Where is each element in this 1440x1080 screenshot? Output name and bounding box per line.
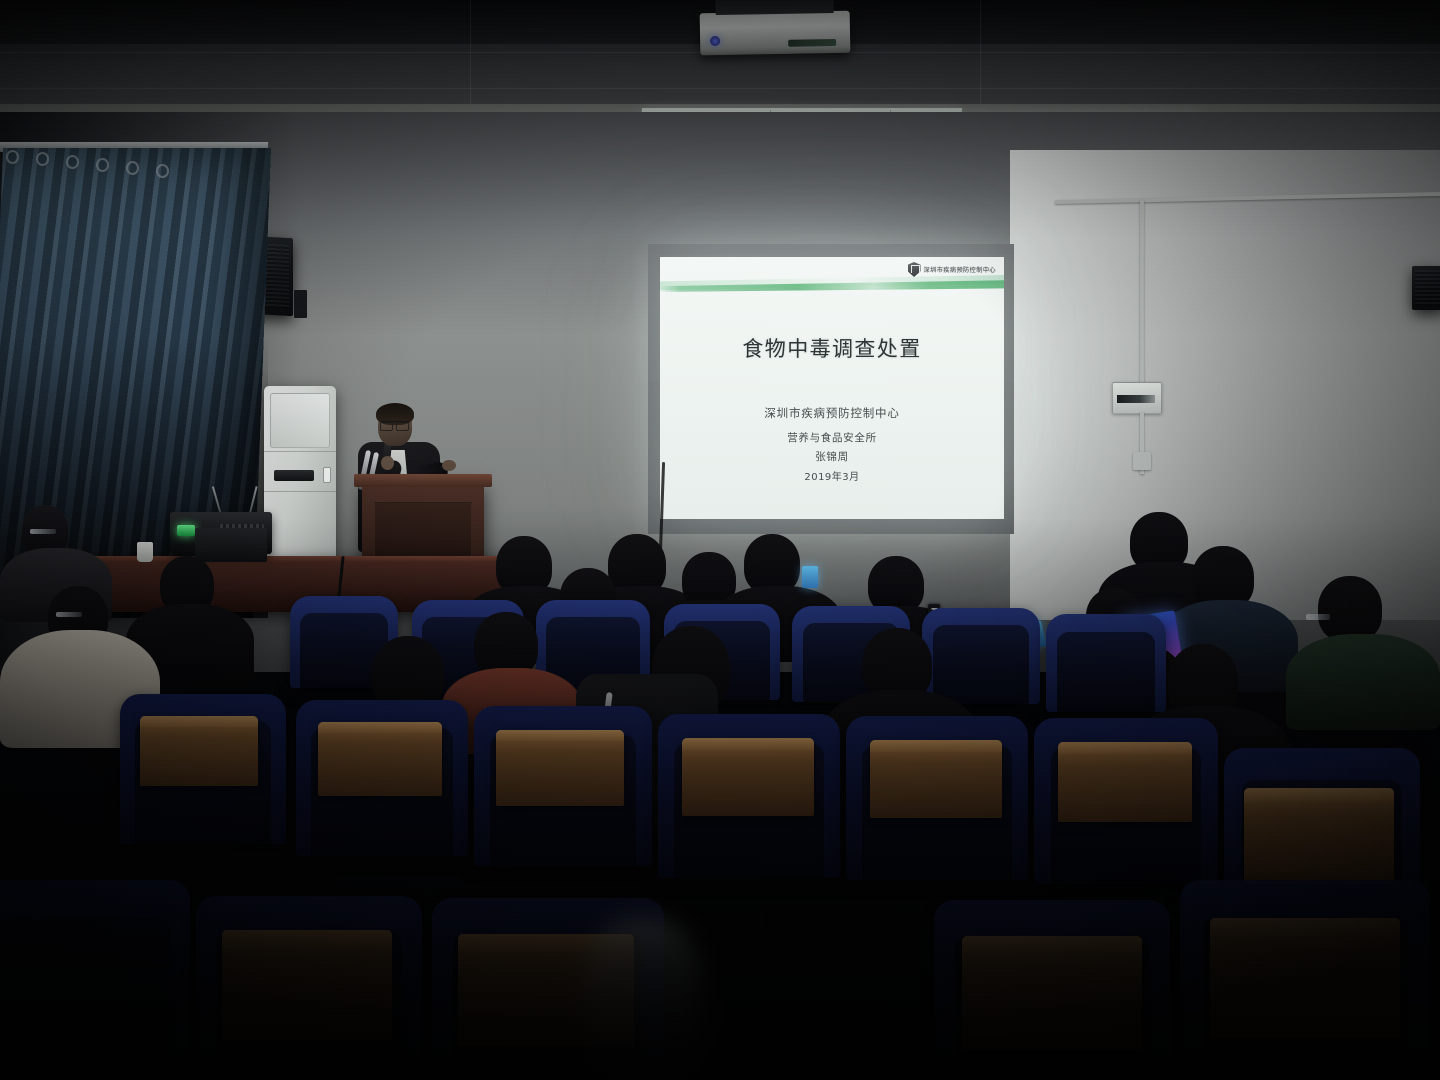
seat-writing-tablet[interactable]	[682, 738, 814, 816]
wall-junction-box	[1133, 452, 1151, 470]
glasses-icon	[380, 421, 409, 429]
auditorium-seat[interactable]	[0, 880, 190, 1080]
curtain-hook	[156, 164, 169, 178]
projector-lens-icon	[710, 36, 720, 46]
speaker-bracket	[294, 290, 307, 318]
paper-cup	[137, 542, 153, 562]
slide-date-line: 2019年3月	[660, 468, 1004, 483]
slide-logo: 深圳市疾病预防控制中心	[908, 262, 996, 277]
ceiling-projector	[700, 11, 851, 56]
curtain-hook	[66, 155, 79, 169]
seat-writing-tablet[interactable]	[1210, 918, 1400, 1038]
shield-logo-icon	[908, 262, 921, 277]
slide-logo-text: 深圳市疾病预防控制中心	[924, 265, 996, 274]
presentation-slide: 深圳市疾病预防控制中心 食物中毒调查处置 深圳市疾病预防控制中心 营养与食品安全…	[660, 257, 1004, 519]
audience-torso	[1286, 634, 1440, 730]
seat-writing-tablet[interactable]	[140, 716, 258, 786]
ac-display	[274, 470, 314, 481]
audience-head	[744, 534, 800, 594]
ac-power-button[interactable]	[323, 467, 331, 483]
slide-title: 食物中毒调查处置	[660, 333, 1004, 363]
curtain-hook	[96, 158, 109, 172]
presenter-hand	[442, 460, 456, 471]
auditorium-seat[interactable]	[922, 608, 1040, 704]
seat-writing-tablet[interactable]	[222, 930, 392, 1040]
floor-standing-air-conditioner	[264, 386, 336, 561]
slide-dept-line: 营养与食品安全所	[660, 430, 1004, 445]
seat-writing-tablet[interactable]	[318, 722, 442, 796]
seat-writing-tablet[interactable]	[1244, 788, 1394, 884]
slide-subtitle-block: 深圳市疾病预防控制中心 营养与食品安全所 张锦周 2019年3月	[660, 405, 1004, 483]
ceiling-seam	[0, 88, 1440, 89]
seat-writing-tablet[interactable]	[870, 740, 1002, 818]
glasses-icon	[30, 529, 56, 534]
slide-org-line: 深圳市疾病预防控制中心	[660, 405, 1004, 421]
glasses-icon	[56, 612, 82, 617]
projector-vent	[788, 39, 836, 47]
audio-mixer[interactable]	[195, 528, 267, 562]
ceiling-seam	[470, 0, 471, 118]
illuminated-phone-screen[interactable]	[802, 566, 818, 588]
presenter-hand	[381, 456, 394, 470]
ac-grille	[270, 393, 331, 448]
seat-writing-tablet[interactable]	[496, 730, 624, 806]
lecture-hall-photo: 深圳市疾病预防控制中心 食物中毒调查处置 深圳市疾病预防控制中心 营养与食品安全…	[0, 0, 1440, 1080]
receiver-status-led	[177, 525, 195, 536]
audience-head	[1318, 576, 1382, 642]
podium-top	[354, 474, 492, 487]
glasses-icon	[1306, 614, 1330, 620]
foreground-blurred-object	[584, 918, 702, 1080]
wall-mounted-speaker	[1412, 266, 1440, 310]
seat-writing-tablet[interactable]	[1058, 742, 1192, 822]
curtain-hook	[126, 161, 139, 175]
slide-presenter-line: 张锦周	[660, 449, 1004, 464]
ceiling-seam	[980, 0, 981, 118]
projector-mount	[715, 0, 833, 15]
curtain-hook	[6, 150, 19, 164]
curtain-hook	[36, 152, 49, 166]
panel-display	[1117, 395, 1155, 403]
wall-control-panel	[1112, 382, 1162, 414]
auditorium-seat[interactable]	[1046, 614, 1166, 712]
wall-conduit-drop	[1140, 200, 1144, 390]
table-edge	[60, 556, 530, 563]
seat-writing-tablet[interactable]	[962, 936, 1142, 1050]
